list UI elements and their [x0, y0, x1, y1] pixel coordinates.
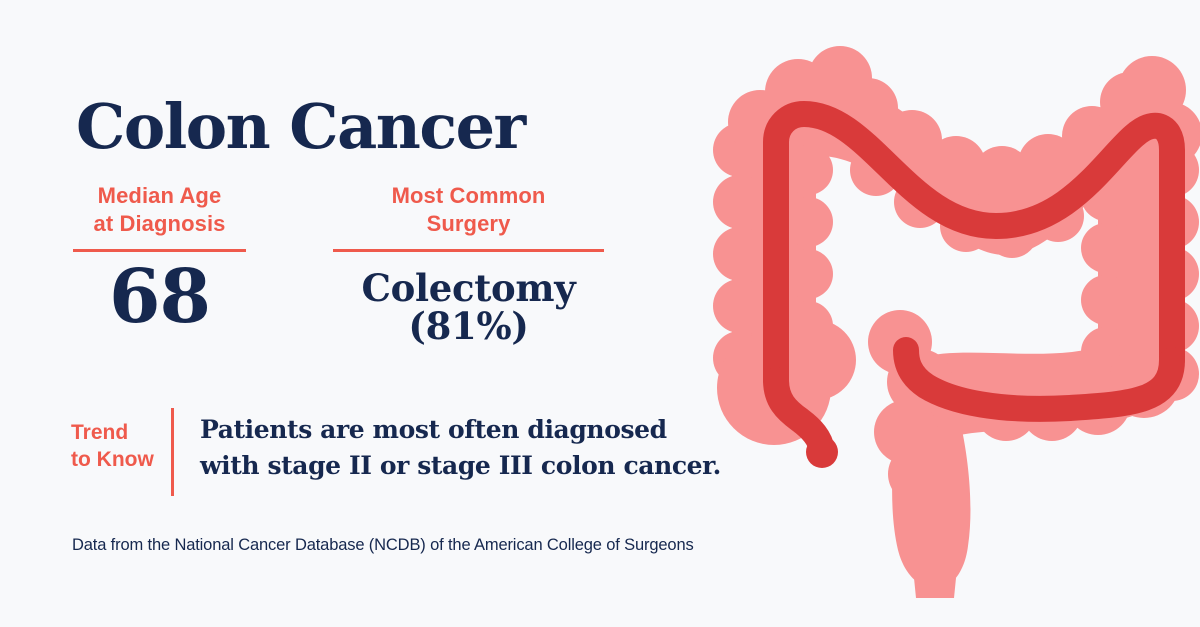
data-source-note: Data from the National Cancer Database (… — [72, 536, 694, 555]
stat-most-common-surgery-label: Most Common Surgery — [392, 182, 546, 237]
stat-median-age-label-line2: at Diagnosis — [93, 211, 225, 236]
stats-row: Median Age at Diagnosis 68 Most Common S… — [73, 182, 604, 346]
stat-median-age-label-line1: Median Age — [98, 183, 222, 208]
stat-most-common-surgery-label-line1: Most Common — [392, 183, 546, 208]
stat-median-age-rule — [73, 249, 246, 252]
rectum — [892, 430, 970, 598]
stat-median-age: Median Age at Diagnosis 68 — [73, 182, 246, 336]
infographic-canvas: Colon Cancer Median Age at Diagnosis 68 … — [0, 0, 1200, 627]
trend-text-line2: with stage II or stage III colon cancer. — [200, 448, 721, 484]
stat-most-common-surgery-value-line2: (81%) — [362, 308, 576, 346]
colon-illustration — [700, 30, 1200, 600]
trend-label-line1: Trend — [71, 421, 128, 444]
trend-text: Patients are most often diagnosed with s… — [200, 408, 721, 483]
trend-text-line1: Patients are most often diagnosed — [200, 415, 667, 444]
colon-illustration-svg — [700, 30, 1200, 600]
stat-most-common-surgery-value: Colectomy (81%) — [362, 270, 576, 345]
stat-most-common-surgery-label-line2: Surgery — [427, 211, 511, 236]
page-title: Colon Cancer — [76, 96, 525, 158]
trend-label: Trend to Know — [71, 408, 171, 474]
trend-block: Trend to Know Patients are most often di… — [71, 408, 721, 496]
stat-most-common-surgery: Most Common Surgery Colectomy (81%) — [333, 182, 604, 346]
stat-median-age-label: Median Age at Diagnosis — [93, 182, 225, 237]
stat-most-common-surgery-rule — [333, 249, 604, 252]
trend-label-line2: to Know — [71, 446, 171, 473]
stat-median-age-value: 68 — [109, 260, 210, 335]
trend-divider — [171, 408, 174, 496]
